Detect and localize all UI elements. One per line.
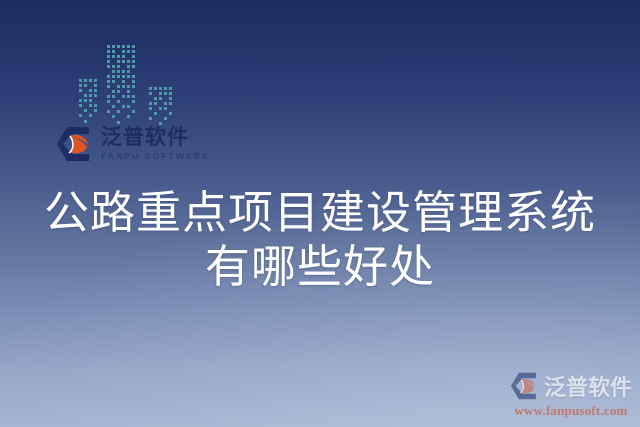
brand-logo: 泛普软件 FANPU SOFTWARE [56, 126, 210, 162]
brand-name-cn: 泛普软件 [101, 127, 210, 148]
watermark-url: www.fanpusoft.com [514, 403, 627, 419]
pixel-city-skyline-icon [78, 36, 186, 128]
brand-wordmark: 泛普软件 FANPU SOFTWARE [101, 127, 210, 161]
page-title-line-2: 有哪些好处 [0, 240, 640, 294]
fanpu-logo-mark-icon [56, 126, 94, 162]
watermark: 泛普软件 www.fanpusoft.com [510, 370, 632, 419]
banner-canvas: 泛普软件 FANPU SOFTWARE 公路重点项目建设管理系统 有哪些好处 泛… [0, 0, 640, 427]
page-title-line-1: 公路重点项目建设管理系统 [0, 186, 640, 240]
fanpu-logo-mark-icon [510, 372, 540, 400]
watermark-name-cn: 泛普软件 [544, 370, 632, 402]
brand-name-en: FANPU SOFTWARE [101, 152, 210, 161]
watermark-logo-row: 泛普软件 [510, 370, 632, 402]
page-title: 公路重点项目建设管理系统 有哪些好处 [0, 186, 640, 294]
